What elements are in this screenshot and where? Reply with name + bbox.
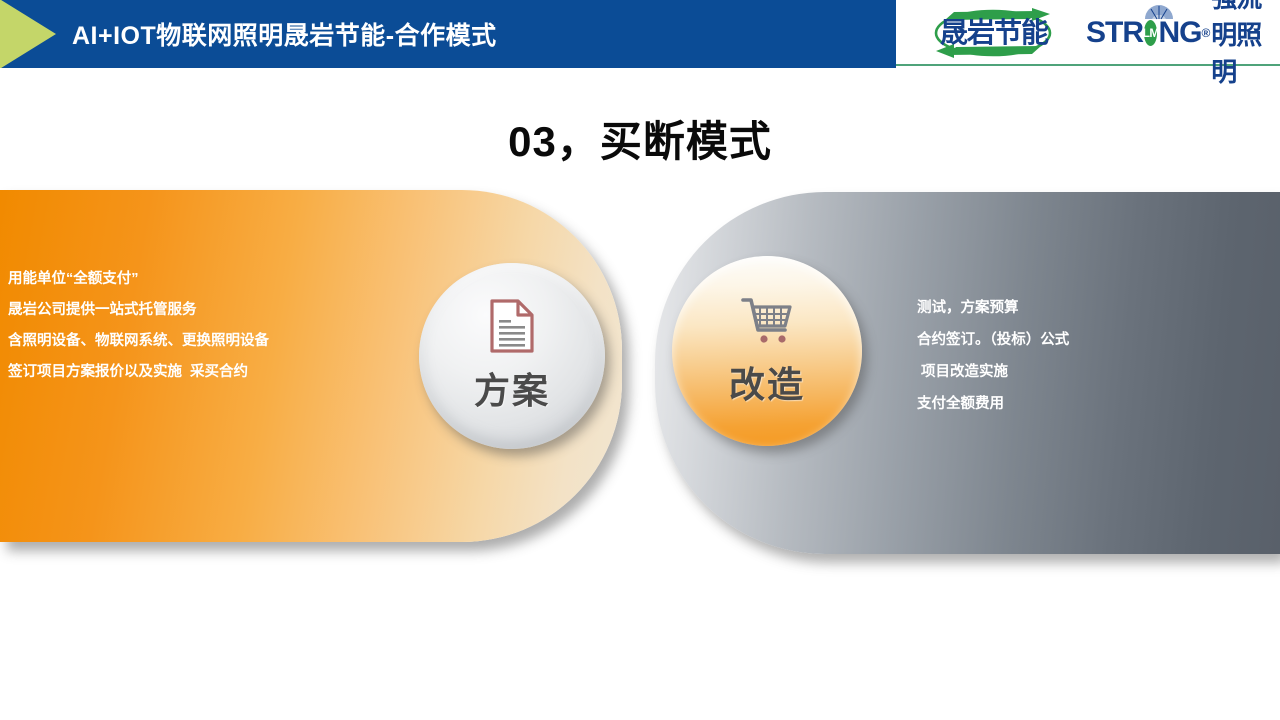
page-title: 03，买断模式 bbox=[0, 108, 1280, 169]
panel-right-text-block: 测试，方案预算 合约签订。（投标）公式 项目改造实施 支付全额费用 bbox=[917, 292, 1247, 420]
panel-left-text-block: 用能单位“全额支付” 晟岩公司提供一站式托管服务 含照明设备、物联网系统、更换照… bbox=[8, 264, 360, 388]
circle-retrofit[interactable]: 改造 bbox=[672, 256, 862, 446]
logo-brand-chinese: 强流明照明 bbox=[1211, 0, 1276, 89]
shopping-cart-icon bbox=[740, 294, 794, 348]
logo-chinese-block: 晟岩节能 bbox=[904, 6, 1082, 60]
panel-left-line-4: 签订项目方案报价以及实施 采买合约 bbox=[8, 357, 360, 388]
content-area: 用能单位“全额支付” 晟岩公司提供一站式托管服务 含照明设备、物联网系统、更换照… bbox=[0, 180, 1280, 580]
circle-plan-label: 方案 bbox=[474, 362, 550, 414]
logo-brand-suffix: NG bbox=[1158, 16, 1201, 50]
panel-right-line-4: 支付全额费用 bbox=[917, 388, 1247, 420]
header-bar: AI+IOT物联网照明晟岩节能-合作模式 晟岩节能 STRLMNG®强流明照明 bbox=[0, 0, 1280, 68]
panel-right-line-2: 合约签订。（投标）公式 bbox=[917, 324, 1247, 356]
panel-left-line-1: 用能单位“全额支付” bbox=[8, 264, 360, 295]
circle-plan[interactable]: 方案 bbox=[419, 263, 605, 449]
panel-right-line-3: 项目改造实施 bbox=[917, 356, 1247, 388]
panel-right-line-1: 测试，方案预算 bbox=[917, 292, 1247, 324]
logo-fan-icon bbox=[1142, 4, 1176, 20]
header-title: AI+IOT物联网照明晟岩节能-合作模式 bbox=[72, 0, 497, 68]
slide-root: AI+IOT物联网照明晟岩节能-合作模式 晟岩节能 STRLMNG®强流明照明 … bbox=[0, 0, 1280, 720]
document-icon bbox=[488, 298, 536, 354]
company-logo: 晟岩节能 STRLMNG®强流明照明 bbox=[904, 4, 1276, 62]
logo-lm-mark: LM bbox=[1144, 20, 1157, 46]
panel-left-line-2: 晟岩公司提供一站式托管服务 bbox=[8, 295, 360, 326]
circle-retrofit-label: 改造 bbox=[729, 356, 805, 408]
panel-left-line-3: 含照明设备、物联网系统、更换照明设备 bbox=[8, 326, 360, 357]
logo-lm-text: LM bbox=[1144, 20, 1157, 46]
logo-chinese-name: 晟岩节能 bbox=[912, 16, 1076, 50]
logo-brand-prefix: STR bbox=[1086, 16, 1143, 50]
logo-strong-block: STRLMNG®强流明照明 bbox=[1086, 6, 1276, 60]
logo-registered-mark: ® bbox=[1201, 26, 1210, 40]
